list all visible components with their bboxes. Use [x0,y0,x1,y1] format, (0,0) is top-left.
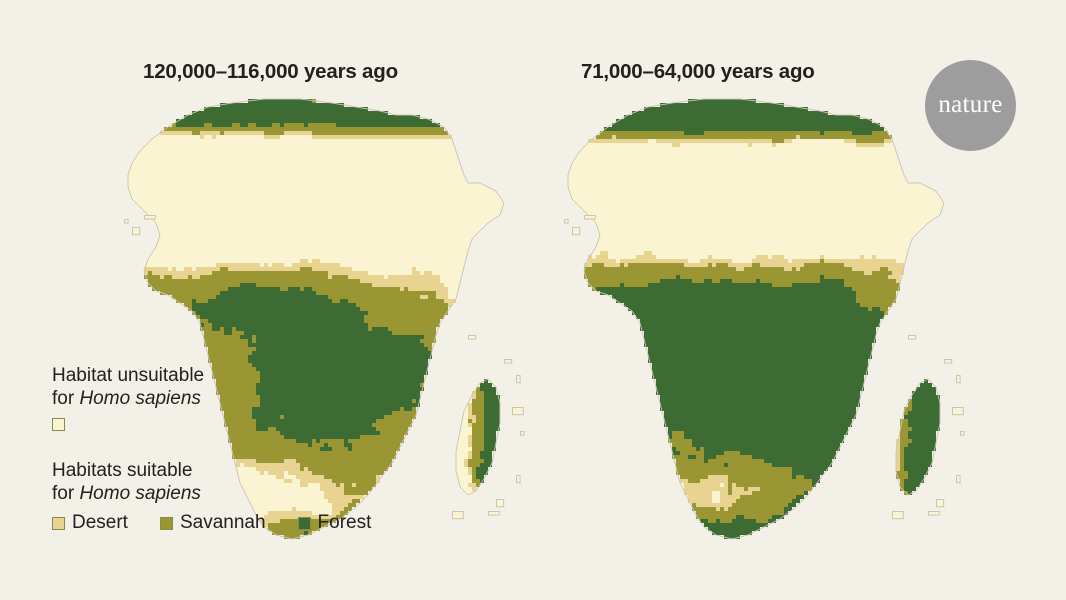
panel-title-right: 71,000–64,000 years ago [581,60,815,84]
infographic-root: 120,000–116,000 years ago 71,000–64,000 … [0,0,1066,600]
nature-logo-badge: nature [925,60,1016,151]
legend-group-suitable: Habitats suitable for Homo sapiens Deser… [52,459,432,534]
panel-title-left: 120,000–116,000 years ago [143,60,398,84]
swatch-unsuitable [52,418,65,431]
legend-unsuitable-line2-prefix: for [52,388,79,409]
legend-key-forest: Forest [298,512,372,534]
legend-unsuitable-key [52,417,432,433]
legend-suitable-line2-prefix: for [52,483,79,504]
legend-key-savannah-label: Savannah [180,512,266,534]
legend-unsuitable-line1: Habitat unsuitable [52,364,432,387]
legend-suitable-keys: Desert Savannah Forest [52,512,432,534]
swatch-savannah [160,517,173,530]
legend-key-desert-label: Desert [72,512,128,534]
legend-unsuitable-line2: for Homo sapiens [52,387,432,410]
legend-suitable-line1: Habitats suitable [52,459,432,482]
swatch-forest [298,517,311,530]
legend-key-savannah: Savannah [160,512,266,534]
legend-suitable-line2: for Homo sapiens [52,482,432,505]
map-africa-71k-64k [540,95,972,567]
legend-suitable-species: Homo sapiens [79,483,200,504]
legend-key-desert: Desert [52,512,128,534]
nature-wordmark: nature [938,92,1002,117]
legend-key-forest-label: Forest [318,512,372,534]
legend: Habitat unsuitable for Homo sapiens Habi… [52,364,432,534]
legend-unsuitable-species: Homo sapiens [79,388,200,409]
swatch-desert [52,517,65,530]
legend-group-unsuitable: Habitat unsuitable for Homo sapiens [52,364,432,433]
